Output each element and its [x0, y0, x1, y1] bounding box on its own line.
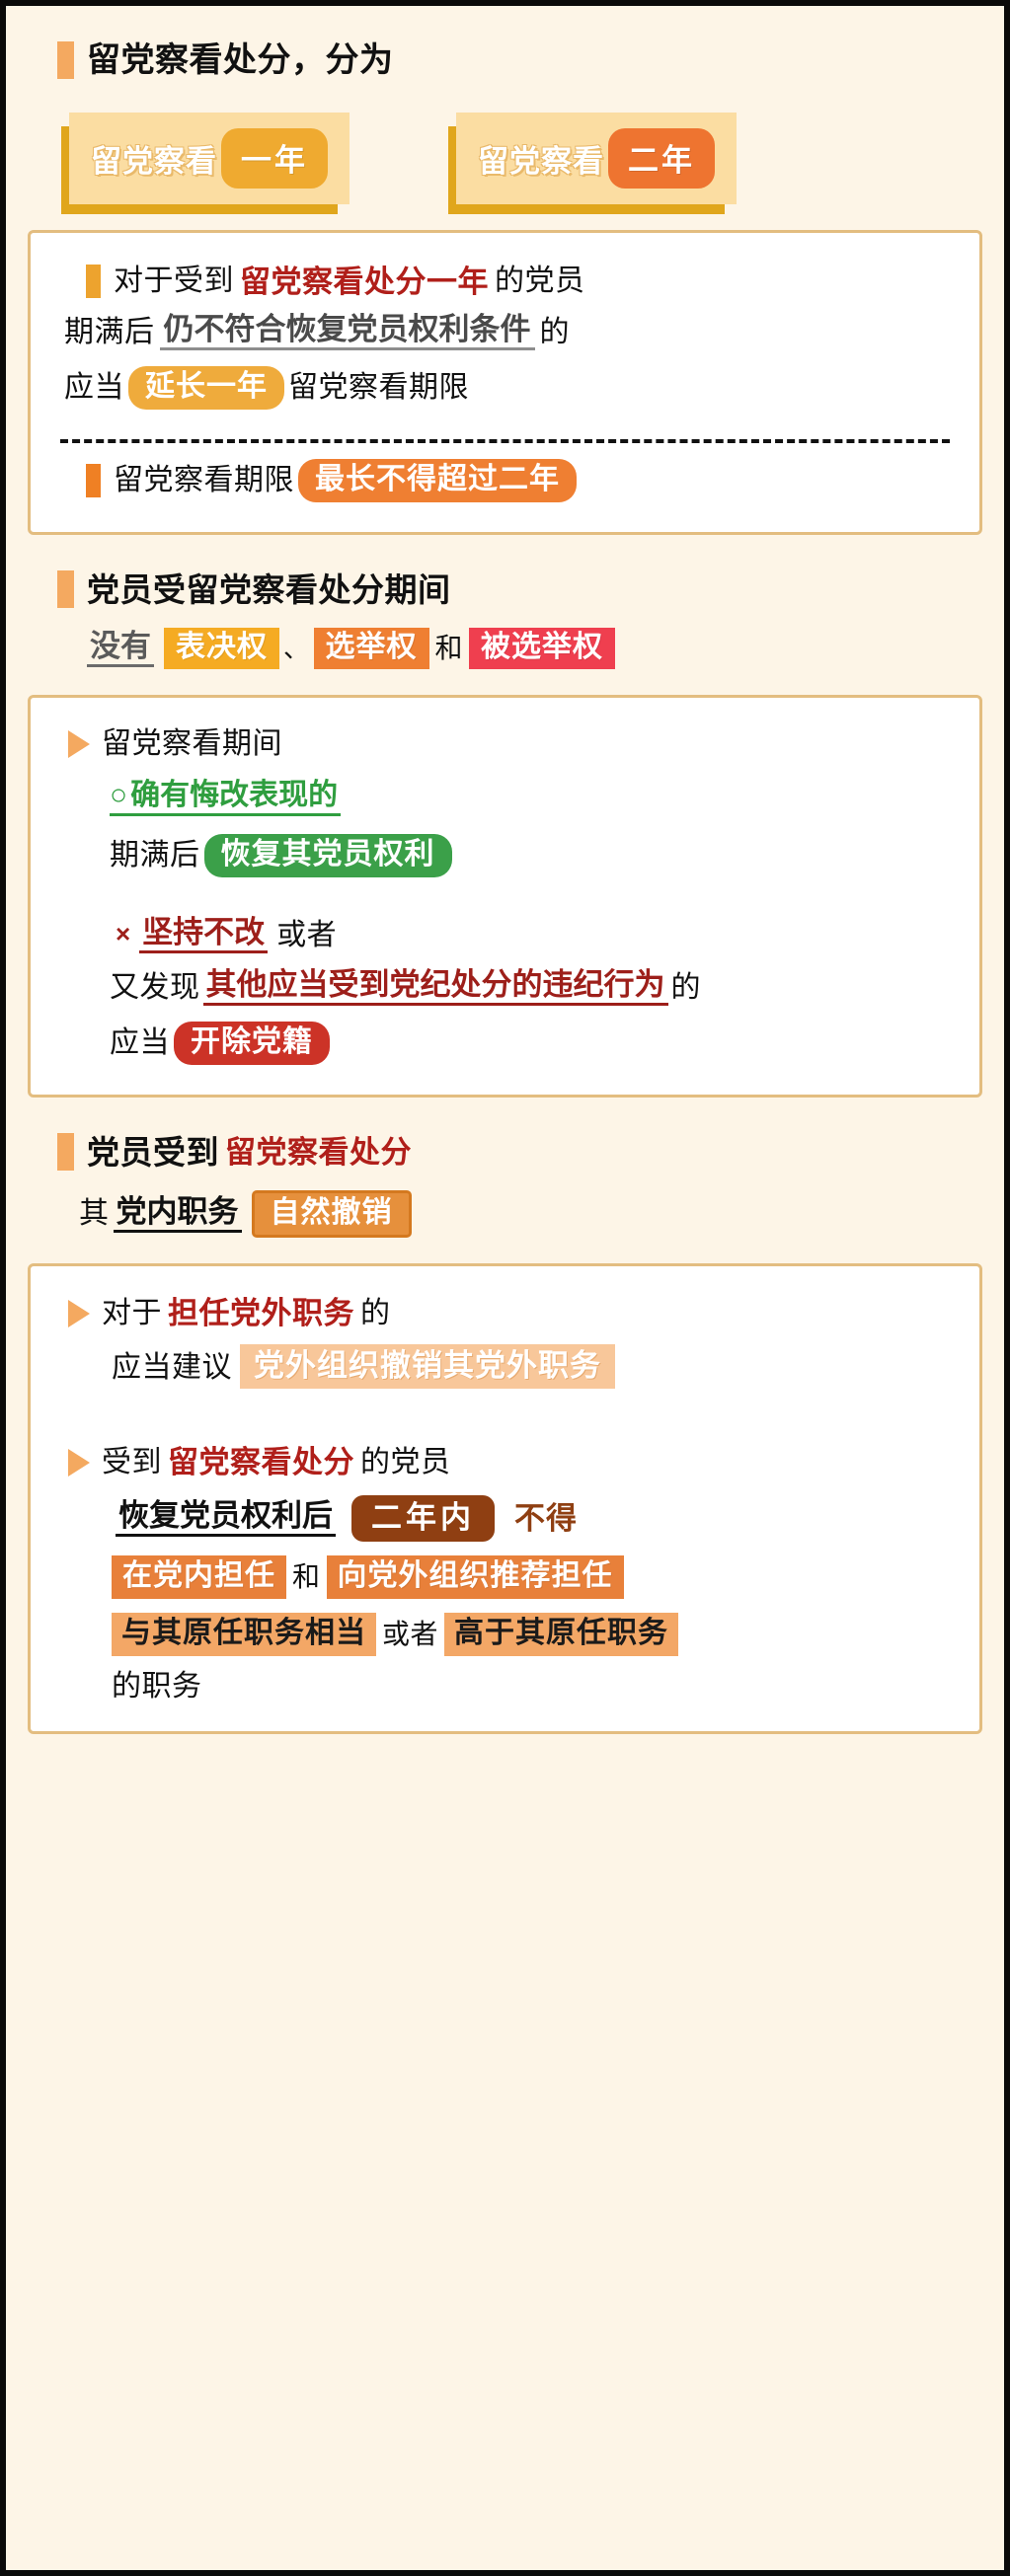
- separator: 和: [286, 1563, 327, 1591]
- positions-revoked-row: 其 党内职务 自然撤销: [79, 1190, 982, 1238]
- section-head-emphasis: 留党察看处分: [219, 1137, 418, 1168]
- orange-square-bullet-icon: [57, 41, 74, 79]
- restore-rights-pill: 恢复其党员权利: [204, 834, 452, 877]
- higher-position-tag: 高于其原任职务: [444, 1613, 678, 1656]
- max-two-year-pill: 最长不得超过二年: [298, 459, 577, 502]
- restriction-text: 应当建议: [112, 1353, 232, 1383]
- right-tag-voting: 表决权: [164, 628, 279, 669]
- orange-square-bullet-icon: [86, 464, 101, 497]
- page-title: 留党察看处分，分为: [87, 43, 394, 77]
- restriction-item-1: 对于 担任党外职务 的: [68, 1298, 950, 1328]
- positions-text: 其: [79, 1199, 110, 1229]
- spacer: [60, 1392, 950, 1431]
- right-tag-elect: 选举权: [314, 628, 429, 669]
- outcome-bad-row-2: 又发现 其他应当受到党纪处分的违纪行为 的: [110, 969, 950, 1006]
- outcome-bad-row: × 坚持不改 或者: [110, 917, 950, 953]
- box-probation-outcomes: 留党察看期间 ○ 确有悔改表现的 期满后 恢复其党员权利 × 坚持不改 或者 又…: [28, 695, 982, 1098]
- inner-party-hold-tag: 在党内担任: [112, 1555, 286, 1599]
- outcome-head: 留党察看期间: [68, 729, 950, 759]
- outcome-bad-row-3: 应当 开除党籍: [110, 1022, 950, 1065]
- rule-emphasis-red: 留党察看处分一年: [234, 266, 495, 297]
- card-label: 留党察看: [478, 136, 608, 181]
- two-year-window-pill: 二年内: [351, 1495, 495, 1542]
- card-inner: 留党察看 二年: [478, 128, 715, 189]
- circle-mark-icon: ○: [110, 781, 130, 816]
- outcome-text: 或者: [276, 921, 337, 950]
- no-label: 没有: [87, 631, 154, 667]
- after-restore-label: 恢复党员权利后: [116, 1500, 336, 1537]
- restriction-item-2-line2: 恢复党员权利后 二年内 不得: [112, 1495, 950, 1542]
- dashed-divider: [60, 439, 950, 443]
- restriction-item-2-line4: 与其原任职务相当 或者 高于其原任职务: [112, 1613, 950, 1656]
- rule-line-2: 期满后 仍不符合恢复党员权利条件 的: [64, 314, 950, 350]
- separator: 或者: [376, 1621, 444, 1648]
- header-title-row: 留党察看处分，分为: [57, 41, 982, 79]
- separator: 、: [279, 636, 314, 661]
- section-positions-head: 党员受到 留党察看处分: [57, 1133, 982, 1171]
- page-inner: 留党察看处分，分为 留党察看 一年 留党察看 二年 对于受到 留党察看处分一年 …: [6, 6, 1004, 2570]
- rule-text: 留党察看期限: [114, 466, 294, 495]
- section-rights-head: 党员受留党察看处分期间: [57, 570, 982, 608]
- section-head-text: 党员受留党察看处分期间: [87, 573, 451, 606]
- recommend-revoke-tag: 党外组织撤销其党外职务: [240, 1344, 615, 1392]
- rule-text: 的党员: [495, 266, 585, 296]
- cross-mark-icon: ×: [113, 921, 133, 949]
- restriction-text: 的: [360, 1299, 391, 1328]
- rule-text: 应当: [64, 373, 124, 403]
- extend-one-year-pill: 延长一年: [128, 366, 284, 410]
- triangle-bullet-icon: [68, 1449, 90, 1477]
- rule-text: 留党察看期限: [288, 373, 469, 403]
- rule-text: 期满后: [64, 318, 155, 347]
- section-head-text: 党员受到: [87, 1136, 219, 1169]
- auto-revoke-tag: 自然撤销: [252, 1190, 412, 1238]
- card-probation-one-year[interactable]: 留党察看 一年: [69, 113, 350, 204]
- card-label: 留党察看: [91, 136, 221, 181]
- outcome-good-row: ○ 确有悔改表现的: [110, 781, 950, 816]
- restriction-item-1-line2: 应当建议 党外组织撤销其党外职务: [112, 1344, 950, 1392]
- card-duration-pill: 二年: [608, 128, 715, 189]
- rights-removed-row: 没有 表决权 、 选举权 和 被选举权: [87, 628, 982, 669]
- prohibition-label: 不得: [514, 1503, 578, 1534]
- outcome-head-text: 留党察看期间: [102, 729, 282, 759]
- rule-line-1: 对于受到 留党察看处分一年 的党员: [86, 265, 950, 298]
- rule-text: 的: [540, 318, 571, 347]
- inner-party-position-label: 党内职务: [114, 1196, 242, 1233]
- box-extension-rules: 对于受到 留党察看处分一年 的党员 期满后 仍不符合恢复党员权利条件 的 应当 …: [28, 230, 982, 535]
- recommend-outside-tag: 向党外组织推荐担任: [327, 1555, 624, 1599]
- card-duration-pill: 一年: [221, 128, 328, 189]
- outcome-good-result: 期满后 恢复其党员权利: [110, 834, 950, 877]
- outcome-bad-emphasis: 其他应当受到党纪处分的违纪行为: [203, 969, 668, 1006]
- outcome-text: 应当: [110, 1028, 170, 1058]
- equivalent-position-tag: 与其原任职务相当: [112, 1613, 376, 1656]
- orange-square-bullet-icon: [57, 1133, 74, 1171]
- restriction-item-2-line3: 在党内担任 和 向党外组织推荐担任: [112, 1555, 950, 1599]
- rule-line-4: 留党察看期限 最长不得超过二年: [86, 459, 950, 502]
- restriction-text: 的职务: [112, 1672, 202, 1702]
- restriction-text: 对于: [102, 1299, 162, 1328]
- restriction-text: 受到: [102, 1448, 162, 1477]
- triangle-bullet-icon: [68, 730, 90, 758]
- outcome-good-text: 确有悔改表现的: [130, 781, 341, 816]
- outcome-text: 的: [671, 973, 702, 1003]
- restriction-emphasis: 留党察看处分: [162, 1447, 360, 1477]
- restriction-emphasis: 担任党外职务: [162, 1298, 360, 1328]
- orange-square-bullet-icon: [57, 570, 74, 608]
- triangle-bullet-icon: [68, 1300, 90, 1327]
- restriction-item-2: 受到 留党察看处分 的党员: [68, 1447, 950, 1477]
- separator: 和: [429, 635, 470, 662]
- rule-emphasis-underline: 仍不符合恢复党员权利条件: [160, 314, 535, 350]
- outcome-bad-text: 坚持不改: [139, 917, 268, 953]
- rule-line-3: 应当 延长一年 留党察看期限: [64, 366, 950, 410]
- card-inner: 留党察看 一年: [91, 128, 328, 189]
- rule-text: 对于受到: [114, 266, 234, 296]
- outcome-text: 又发现: [110, 973, 200, 1003]
- infographic-page: 留党察看处分，分为 留党察看 一年 留党察看 二年 对于受到 留党察看处分一年 …: [0, 0, 1010, 2576]
- outcome-text: 期满后: [110, 841, 200, 871]
- spacer: [60, 877, 950, 899]
- orange-square-bullet-icon: [86, 265, 101, 298]
- restriction-item-2-line5: 的职务: [112, 1672, 950, 1702]
- expel-party-pill: 开除党籍: [174, 1022, 330, 1065]
- box-position-restrictions: 对于 担任党外职务 的 应当建议 党外组织撤销其党外职务 受到 留党察看处分 的…: [28, 1263, 982, 1734]
- right-tag-be-elected: 被选举权: [469, 628, 615, 669]
- penalty-type-cards: 留党察看 一年 留党察看 二年: [69, 113, 982, 204]
- restriction-text: 的党员: [360, 1448, 451, 1477]
- card-probation-two-year[interactable]: 留党察看 二年: [456, 113, 737, 204]
